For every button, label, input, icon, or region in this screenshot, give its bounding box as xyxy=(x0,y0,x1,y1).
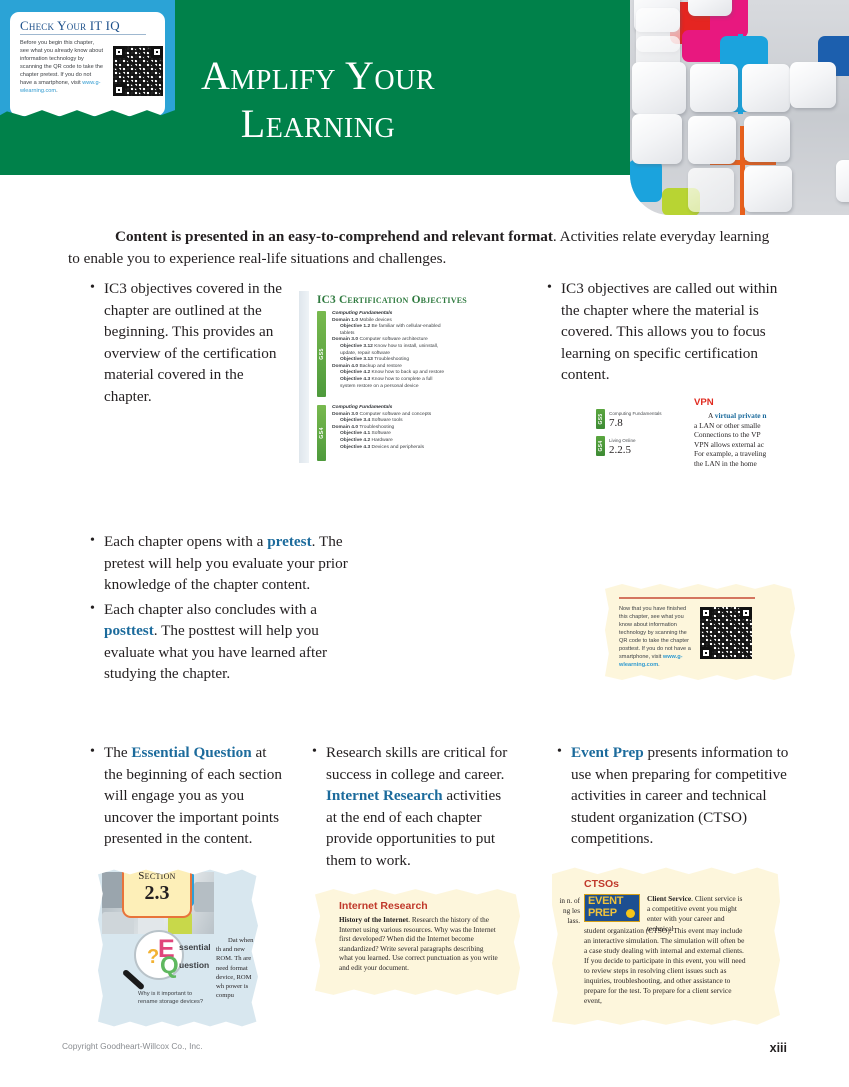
bullet-posttest-pre: Each chapter also concludes with a xyxy=(104,601,317,618)
ic3-domain: Domain 3.0 xyxy=(332,337,358,342)
list-item: IC3 objectives covered in the chapter ar… xyxy=(88,278,293,407)
footer-copyright: Copyright Goodheart-Willcox Co., Inc. xyxy=(62,1041,203,1051)
bullet-eq-pre: The xyxy=(104,744,131,761)
header-mosaic-graphic xyxy=(630,0,849,215)
ctso-body-rest: student organization (CTSO). This event … xyxy=(584,926,747,1006)
vpn-heading: VPN xyxy=(694,397,714,408)
event-prep-logo-dot xyxy=(626,909,635,918)
eq-word-question: uestion xyxy=(179,960,209,970)
ic3-objective-rest: Know how to install, uninstall, xyxy=(374,344,438,349)
vpn-tag-chip: GS5 xyxy=(596,409,605,429)
ic3-objective: Objective 3.4 xyxy=(332,418,370,423)
ctso-left-edge-fragments: in n. of ng les lass. xyxy=(558,896,580,926)
list-item: IC3 objectives are called out within the… xyxy=(545,278,790,386)
eq-body-text: Dat when th and new ROM. Th are need for… xyxy=(216,936,256,1000)
vpn-tag: GS4 Living Online 2.2.5 xyxy=(596,436,662,456)
bullet-text-ic3-left: IC3 objectives covered in the chapter ar… xyxy=(104,280,282,405)
itiq-title: Check Your IT IQ xyxy=(20,18,120,34)
ic3-objective-rest: Software tools xyxy=(372,418,403,423)
eq-question-text: Why is it important to rename storage de… xyxy=(138,990,210,1007)
mosaic-tile xyxy=(688,0,732,16)
bullet-list-ic3-outline: IC3 objectives covered in the chapter ar… xyxy=(88,278,293,410)
posttest-rule xyxy=(619,597,755,599)
mosaic-accent-cyan-2 xyxy=(630,160,662,202)
bullet-list-internet-research: Research skills are critical for success… xyxy=(310,742,515,874)
qr-code-icon xyxy=(113,46,163,96)
ic3-domain-rest: Computer software and concepts xyxy=(359,412,431,417)
list-item: Each chapter also concludes with a postt… xyxy=(88,599,353,685)
vpn-tag: GS5 Computing Fundamentals 7.8 xyxy=(596,409,662,429)
figure-vpn-callout: GS5 Computing Fundamentals 7.8 GS4 Livin… xyxy=(578,385,798,473)
mosaic-tile xyxy=(790,62,836,108)
vpn-body-line: A virtual private n xyxy=(694,411,798,421)
intro-paragraph: Content is presented in an easy-to-compr… xyxy=(68,226,780,270)
ic3-objective: Objective 4.3 xyxy=(332,445,370,450)
vpn-body: A virtual private n a LAN or other small… xyxy=(694,411,798,469)
figure-ic3-certification-objectives: IC3 Certification Objectives GS5 Computi… xyxy=(295,283,475,473)
ic3-group-tag-bar: GS4 xyxy=(317,405,326,461)
vpn-body-keyword: virtual private n xyxy=(715,411,767,420)
ic3-objective: Objective 4.2 xyxy=(332,370,370,375)
bullet-posttest-keyword: posttest xyxy=(104,622,154,639)
mosaic-tile xyxy=(836,160,849,202)
posttest-body-end: . xyxy=(658,662,660,668)
vpn-body-line: VPN allows external ac xyxy=(694,440,798,450)
ic3-group-gs5: GS5 Computing Fundamentals Domain 1.0 Mo… xyxy=(317,311,472,390)
ic3-objective-rest: Software xyxy=(372,431,391,436)
itiq-card: Check Your IT IQ Before you begin this c… xyxy=(10,12,165,116)
vpn-objective-tags: GS5 Computing Fundamentals 7.8 GS4 Livin… xyxy=(596,409,662,463)
figure-internet-research: Internet Research History of the Interne… xyxy=(315,888,520,996)
mosaic-tile xyxy=(742,64,790,112)
figure-posttest-note: Now that you have finished this chapter,… xyxy=(605,583,795,681)
list-item: Each chapter opens with a pretest. The p… xyxy=(88,531,353,596)
vpn-body-line: the LAN in the home xyxy=(694,459,798,469)
internet-research-title: Internet Research xyxy=(339,900,428,912)
itiq-body: Before you begin this chapter, see what … xyxy=(20,39,104,95)
mosaic-tile xyxy=(688,168,734,212)
list-item: Event Prep presents information to use w… xyxy=(555,742,795,850)
vpn-tag-text: Computing Fundamentals 7.8 xyxy=(609,411,662,429)
ic3-objective-rest: Devices and peripherals xyxy=(372,445,424,450)
section-label: Section xyxy=(124,870,190,882)
vpn-tag-chip-label: GS5 xyxy=(598,414,604,425)
vpn-body-line: For example, a traveling xyxy=(694,449,798,459)
ctsos-title: CTSOs xyxy=(584,878,619,890)
magnifier-lens: ? E Q xyxy=(134,930,184,980)
ic3-group-tag-label: GS5 xyxy=(319,348,325,360)
intro-bold-lead: Content is presented in an easy-to-compr… xyxy=(115,228,553,245)
bullet-ep-keyword: Event Prep xyxy=(571,744,644,761)
ic3-domain-rest: Backup and restore xyxy=(359,364,401,369)
mosaic-tile xyxy=(632,62,686,114)
section-number: 2.3 xyxy=(124,882,190,904)
vpn-tag-chip-label: GS4 xyxy=(598,441,604,452)
section-number-tab: Section 2.3 xyxy=(122,868,192,918)
mosaic-tile xyxy=(744,166,792,212)
eq-word-essential: ssential xyxy=(179,942,211,952)
bullet-list-essential-question: The Essential Question at the beginning … xyxy=(88,742,288,853)
bullet-text-ic3-right: IC3 objectives are called out within the… xyxy=(561,280,777,383)
ic3-domain: Domain 1.0 xyxy=(332,318,358,323)
figure-check-your-it-iq: Check Your IT IQ Before you begin this c… xyxy=(0,0,175,128)
itiq-body-end: . xyxy=(56,88,58,94)
ic3-heading: Computing Fundamentals xyxy=(332,311,472,318)
ic3-domain-rest: Troubleshooting xyxy=(359,425,394,430)
figure-essential-question: Section 2.3 ? E Q ssential uestion Why i… xyxy=(98,868,258,1028)
list-item: Research skills are critical for success… xyxy=(310,742,515,871)
ic3-domain: Domain 4.0 xyxy=(332,364,358,369)
ic3-domain: Domain 4.0 xyxy=(332,425,358,430)
ic3-objective-rest: Troubleshooting xyxy=(374,357,409,362)
mosaic-tile xyxy=(632,114,682,164)
ic3-cont: system restore on a personal device xyxy=(332,384,472,391)
qr-eye xyxy=(113,84,125,96)
ic3-objective: Objective 1.2 xyxy=(332,324,370,329)
bullet-ir-pre: Research skills are critical for success… xyxy=(326,744,507,783)
figure-paper-edge xyxy=(299,291,309,463)
mosaic-tile xyxy=(690,64,738,112)
ic3-objective: Objective 4.3 xyxy=(332,377,370,382)
vpn-tag-text: Living Online 2.2.5 xyxy=(609,438,636,456)
bullet-pretest-keyword: pretest xyxy=(267,533,311,550)
figure-ctsos-event-prep: CTSOs in n. of ng les lass. EVENT PREP C… xyxy=(552,866,780,1028)
footer-page-number: xiii xyxy=(770,1041,787,1055)
ic3-objective-rest: Know how to complete a full xyxy=(372,377,433,382)
ic3-objective: Objective 4.1 xyxy=(332,431,370,436)
magnifying-glass-icon: ? E Q ssential uestion xyxy=(128,930,190,992)
vpn-tag-number: 7.8 xyxy=(609,417,662,429)
list-item: The Essential Question at the beginning … xyxy=(88,742,288,850)
ic3-heading: Computing Fundamentals xyxy=(332,405,472,412)
internet-research-body-text: . Research the history of the Internet u… xyxy=(339,916,498,972)
event-prep-logo: EVENT PREP xyxy=(584,894,640,922)
posttest-body: Now that you have finished this chapter,… xyxy=(619,605,691,669)
qr-eye xyxy=(700,647,712,659)
ic3-domain-rest: Computer software architecture xyxy=(359,337,427,342)
vpn-body-line: Connections to the VP xyxy=(694,430,798,440)
ic3-domain-rest: Mobile devices xyxy=(359,318,391,323)
bullet-list-event-prep: Event Prep presents information to use w… xyxy=(555,742,795,853)
vpn-body-line: a LAN or other smalle xyxy=(694,421,798,431)
mosaic-tile xyxy=(744,116,790,162)
qr-eye xyxy=(151,46,163,58)
internet-research-body: History of the Internet. Research the hi… xyxy=(339,916,499,974)
qr-code-icon xyxy=(700,607,752,659)
event-prep-logo-line1: EVENT xyxy=(585,895,639,907)
ic3-objective: Objective 3.13 xyxy=(332,357,373,362)
ic3-group-lines: Computing Fundamentals Domain 1.0 Mobile… xyxy=(332,311,472,390)
qr-eye xyxy=(113,46,125,58)
ic3-domain: Domain 3.0 xyxy=(332,412,358,417)
vpn-tag-number: 2.2.5 xyxy=(609,444,636,456)
bullet-ir-keyword: Internet Research xyxy=(326,787,443,804)
qr-eye xyxy=(700,607,712,619)
ctso-body-bold: Client Service xyxy=(647,894,691,903)
bullet-list-pretest-posttest: Each chapter opens with a pretest. The p… xyxy=(88,531,353,688)
bullet-pretest-pre: Each chapter opens with a xyxy=(104,533,267,550)
bullet-list-ic3-callout: IC3 objectives are called out within the… xyxy=(545,278,790,389)
internet-research-body-bold: History of the Internet xyxy=(339,916,408,924)
vpn-body-lead: A xyxy=(708,411,715,420)
ic3-objective-rest: Hardware xyxy=(372,438,393,443)
mosaic-tile xyxy=(688,116,736,164)
ic3-objective: Objective 3.12 xyxy=(332,344,373,349)
eq-logo-letter-q: Q xyxy=(160,954,179,978)
ic3-group-lines: Computing Fundamentals Domain 3.0 Comput… xyxy=(332,405,472,451)
posttest-body-text: Now that you have finished this chapter,… xyxy=(619,606,691,660)
eq-body-column: Dat when th and new ROM. Th are need for… xyxy=(216,936,256,1000)
vpn-tag-chip: GS4 xyxy=(596,436,605,456)
photo-square xyxy=(194,882,214,912)
ic3-objective: Objective 4.2 xyxy=(332,438,370,443)
ic3-group-tag-bar: GS5 xyxy=(317,311,326,397)
ic3-objective-rest: Be familiar with cellular-enabled xyxy=(372,324,441,329)
ic3-figure-title: IC3 Certification Objectives xyxy=(317,294,467,306)
bullet-eq-keyword: Essential Question xyxy=(131,744,251,761)
ic3-group-tag-label: GS4 xyxy=(319,427,325,439)
qr-eye xyxy=(740,607,752,619)
ic3-group-gs4: GS4 Computing Fundamentals Domain 3.0 Co… xyxy=(317,405,472,451)
ic3-objective-rest: Know how to back up and restore xyxy=(372,370,445,375)
